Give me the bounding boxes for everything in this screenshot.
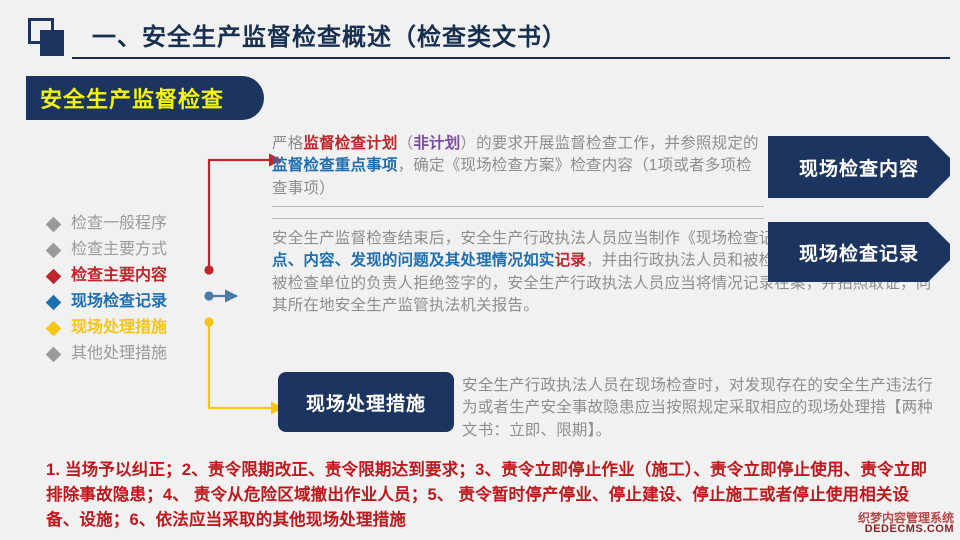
- text-run: 记录: [555, 252, 586, 269]
- row1-tag: 现场检查内容: [768, 136, 950, 198]
- text-run: 监督检查计划: [303, 135, 397, 152]
- red-connector: [204, 160, 281, 275]
- section-banner-label: 安全生产监督检查: [40, 82, 224, 114]
- slide-canvas: 一、安全生产监督检查概述（检查类文书） 安全生产监督检查 检查一般程序检查主要方…: [0, 0, 960, 540]
- bullet-diamond-icon: [46, 294, 62, 310]
- bullet-diamond-icon: [46, 216, 62, 232]
- row3-tag: 现场处理措施: [278, 372, 454, 432]
- text-run: 监督检查重点事项: [272, 157, 398, 174]
- blue-connector: [204, 291, 237, 300]
- row1-paragraph: 严格监督检查计划（非计划）的要求开展监督检查工作，并参照规定的监督检查重点事项，…: [272, 133, 764, 200]
- two-squares-icon: [28, 18, 68, 56]
- row1-bottom-divider: [272, 206, 764, 207]
- watermark-en: DEDECMS.COM: [858, 524, 954, 536]
- bullet-item-label: 检查主要方式: [71, 242, 167, 258]
- watermark: 织梦内容管理系统 DEDECMS.COM: [858, 512, 954, 536]
- bullet-item-label: 检查一般程序: [71, 216, 167, 232]
- bullet-diamond-icon: [46, 346, 62, 362]
- text-run: 非计划: [413, 135, 460, 152]
- bullet-item-label: 检查主要内容: [71, 268, 167, 284]
- bullet-diamond-icon: [46, 268, 62, 284]
- text-run: 安全生产行政执法人员在现场检查时，对发现存在的安全生产违法行为或者生产安全事故隐…: [462, 377, 933, 439]
- bullet-item-label: 现场处理措施: [71, 320, 167, 336]
- bottom-note: 1. 当场予以纠正；2、责令限期改正、责令限期达到要求；3、责令立即停止作业（施…: [46, 458, 936, 532]
- yellow-connector: [204, 317, 283, 408]
- bullet-item-label: 其他处理措施: [71, 346, 167, 362]
- text-run: 严格: [272, 135, 303, 152]
- row2-top-divider: [272, 218, 764, 219]
- row3-paragraph: 安全生产行政执法人员在现场检查时，对发现存在的安全生产违法行为或者生产安全事故隐…: [462, 375, 944, 442]
- slide-header: 一、安全生产监督检查概述（检查类文书）: [0, 0, 960, 62]
- bullet-diamond-icon: [46, 242, 62, 258]
- text-run: （: [398, 135, 414, 152]
- header-divider: [72, 57, 950, 59]
- text-run: ）的要求开展监督检查工作，并参照规定的: [460, 135, 758, 152]
- square-filled-shape: [40, 30, 64, 56]
- row2-tag: 现场检查记录: [768, 222, 950, 282]
- bullet-diamond-icon: [46, 320, 62, 336]
- bullet-item-label: 现场检查记录: [71, 294, 167, 310]
- page-title: 一、安全生产监督检查概述（检查类文书）: [92, 17, 567, 52]
- section-banner: 安全生产监督检查: [26, 76, 264, 120]
